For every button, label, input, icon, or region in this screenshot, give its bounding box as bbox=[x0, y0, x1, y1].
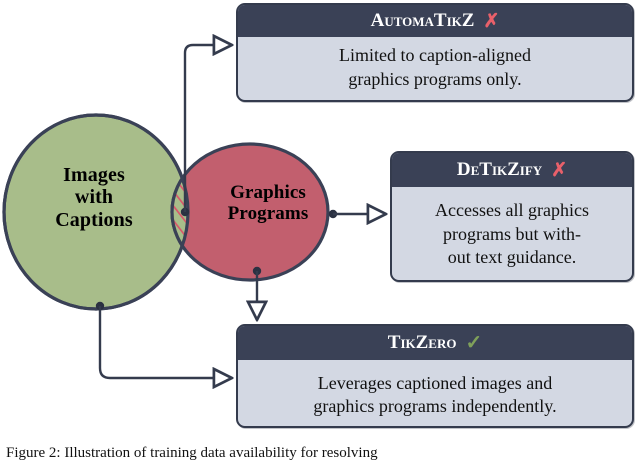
callout-title-tikzero: TikZero bbox=[388, 332, 457, 354]
venn-label-line: Images bbox=[14, 164, 174, 186]
callout-title-automatikz: AutomaTikZ bbox=[371, 10, 475, 32]
callout-body-line: graphics programs independently. bbox=[313, 395, 556, 418]
callout-header-detikzify: DeTikZify ✗ bbox=[392, 153, 632, 187]
venn-label-line: Graphics bbox=[196, 182, 340, 203]
callout-title-detikzify: DeTikZify bbox=[457, 159, 542, 181]
callout-body-line: Accesses all graphics bbox=[435, 199, 589, 222]
cross-icon: ✗ bbox=[551, 161, 567, 180]
venn-label-line: Captions bbox=[14, 209, 174, 231]
callout-box-tikzero: TikZero ✓ Leverages captioned images and… bbox=[236, 324, 634, 428]
callout-header-tikzero: TikZero ✓ bbox=[238, 326, 632, 360]
venn-label-graphics-programs: Graphics Programs bbox=[196, 182, 340, 225]
figure-caption: Figure 2: Illustration of training data … bbox=[6, 444, 634, 462]
callout-box-detikzify: DeTikZify ✗ Accesses all graphics progra… bbox=[390, 151, 634, 282]
venn-label-line: with bbox=[14, 186, 174, 208]
callout-body-detikzify: Accesses all graphics programs but with-… bbox=[392, 187, 632, 282]
check-icon: ✓ bbox=[465, 333, 482, 353]
callout-body-tikzero: Leverages captioned images and graphics … bbox=[238, 360, 632, 428]
callout-body-line: Limited to caption-aligned bbox=[339, 44, 531, 67]
callout-body-line: Leverages captioned images and bbox=[318, 372, 552, 395]
callout-body-line: graphics programs only. bbox=[348, 68, 521, 91]
callout-body-automatikz: Limited to caption-aligned graphics prog… bbox=[238, 37, 632, 100]
callout-body-line: out text guidance. bbox=[448, 246, 576, 269]
arrow-captions-to-tikzero bbox=[96, 302, 231, 378]
venn-label-line: Programs bbox=[196, 203, 340, 224]
callout-header-automatikz: AutomaTikZ ✗ bbox=[238, 5, 632, 37]
callout-box-automatikz: AutomaTikZ ✗ Limited to caption-aligned … bbox=[236, 3, 634, 102]
venn-label-images-with-captions: Images with Captions bbox=[14, 164, 174, 231]
cross-icon: ✗ bbox=[483, 12, 499, 31]
callout-body-line: programs but with- bbox=[443, 223, 581, 246]
figure-illustration: Images with Captions Graphics Programs A… bbox=[0, 0, 640, 462]
